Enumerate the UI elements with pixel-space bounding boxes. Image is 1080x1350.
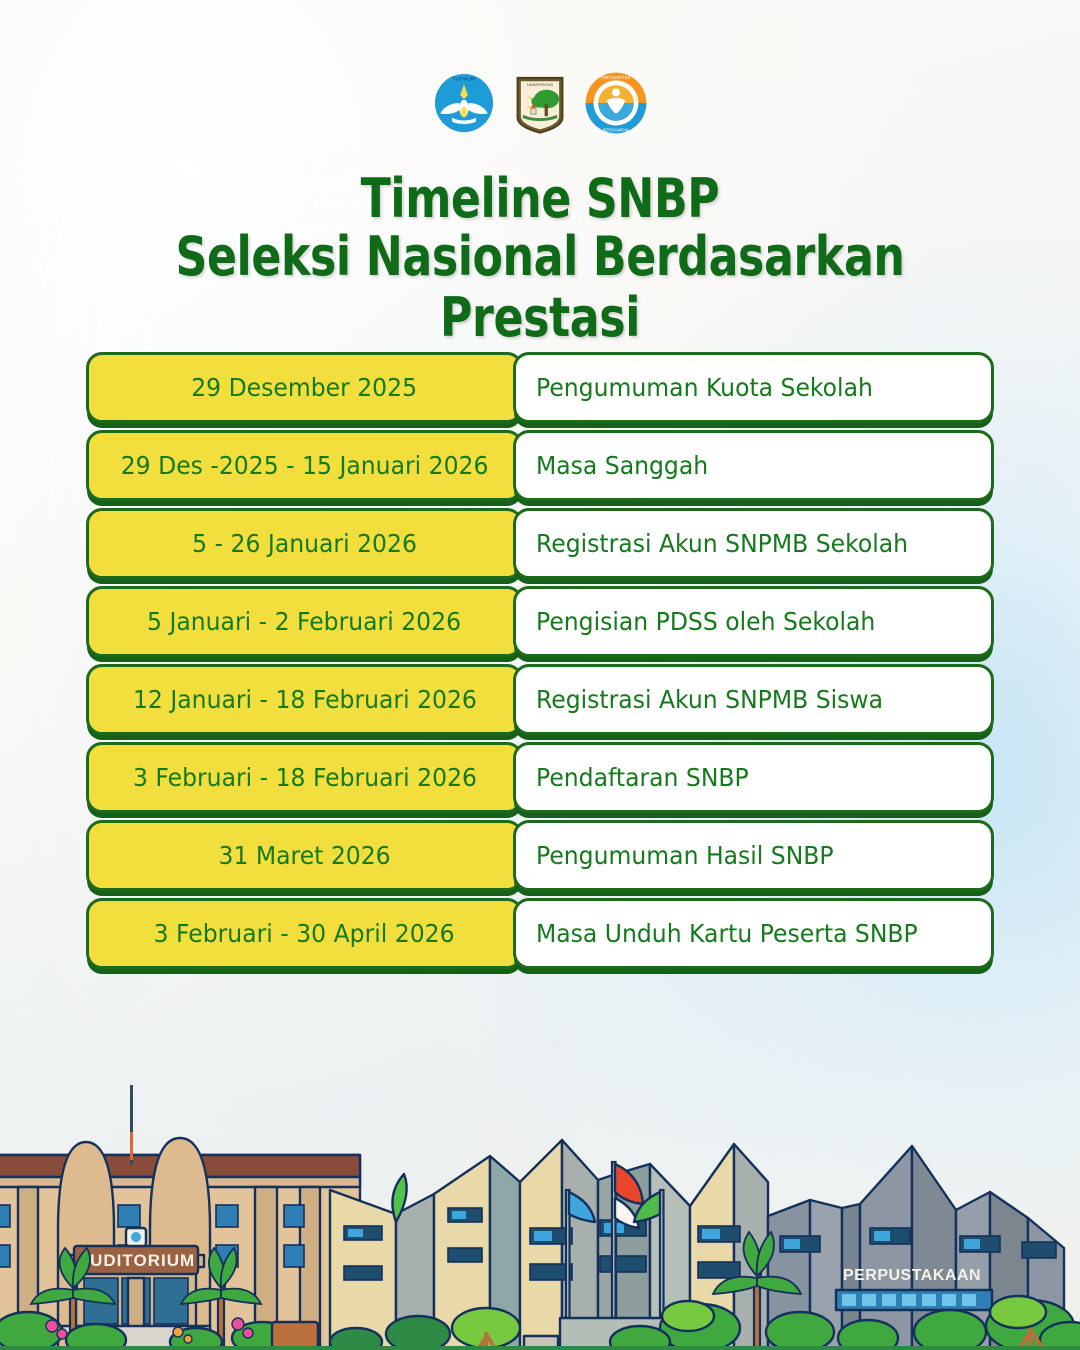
timeline-date-pill: 3 Februari - 30 April 2026 [86,898,523,969]
page-title: Timeline SNBP Seleksi Nasional Berdasark… [0,170,1080,348]
campus-illustration: .ol { stroke:#14315c; stroke-width:2.4; … [0,1050,1080,1350]
timeline-activity-text: Masa Sanggah [536,451,708,480]
timeline-date-text: 29 Des -2025 - 15 Januari 2026 [121,451,489,480]
timeline-date-text: 31 Maret 2026 [218,841,390,870]
title-line-secondary: Seleksi Nasional Berdasarkan Prestasi [97,227,983,348]
timeline-activity-pill: Registrasi Akun SNPMB Sekolah [513,508,994,579]
timeline-activity-pill: Pengisian PDSS oleh Sekolah [513,586,994,657]
timeline-activity-text: Pendaftaran SNBP [536,763,749,792]
tut-wuri-handayani-logo: TUT WURI [431,70,497,136]
library-sign-label: PERPUSTAKAAN [843,1267,981,1284]
timeline-date-pill: 29 Des -2025 - 15 Januari 2026 [86,430,523,501]
table-row: 3 Februari - 30 April 2026 Masa Unduh Ka… [86,898,994,969]
timeline-activity-text: Pengumuman Kuota Sekolah [536,373,873,402]
poster-canvas: TUT WURI UNIVERSITAS [0,0,1080,1350]
timeline-date-pill: 5 Januari - 2 Februari 2026 [86,586,523,657]
timeline-activity-pill: Masa Unduh Kartu Peserta SNBP [513,898,994,969]
timeline-activity-text: Registrasi Akun SNPMB Siswa [536,685,883,714]
timeline-date-text: 29 Desember 2025 [192,373,418,402]
table-row: 5 - 26 Januari 2026 Registrasi Akun SNPM… [86,508,994,579]
svg-text:UNIVERSITAS: UNIVERSITAS [527,82,553,87]
svg-text:BERDAMPAK: BERDAMPAK [603,127,630,132]
svg-text:TUT WURI: TUT WURI [453,77,475,82]
timeline-activity-pill: Pendaftaran SNBP [513,742,994,813]
logo-row: TUT WURI UNIVERSITAS [0,70,1080,136]
timeline-date-text: 5 - 26 Januari 2026 [192,529,417,558]
table-row: 5 Januari - 2 Februari 2026 Pengisian PD… [86,586,994,657]
timeline-activity-text: Registrasi Akun SNPMB Sekolah [536,529,908,558]
timeline-date-pill: 3 Februari - 18 Februari 2026 [86,742,523,813]
timeline-date-text: 3 Februari - 30 April 2026 [154,919,455,948]
auditorium-building: AUDITORIUM [0,1085,360,1350]
timeline-date-pill: 31 Maret 2026 [86,820,523,891]
table-row: 29 Des -2025 - 15 Januari 2026 Masa Sang… [86,430,994,501]
timeline-activity-text: Pengumuman Hasil SNBP [536,841,834,870]
timeline-date-pill: 5 - 26 Januari 2026 [86,508,523,579]
timeline-table: 29 Desember 2025 Pengumuman Kuota Sekola… [86,352,994,976]
timeline-activity-pill: Pengumuman Kuota Sekolah [513,352,994,423]
timeline-activity-pill: Masa Sanggah [513,430,994,501]
timeline-date-text: 12 Januari - 18 Februari 2026 [133,685,477,714]
table-row: 29 Desember 2025 Pengumuman Kuota Sekola… [86,352,994,423]
timeline-activity-text: Masa Unduh Kartu Peserta SNBP [536,919,918,948]
diktisaintek-berdampak-logo: DIKTISAINTEK BERDAMPAK [583,70,649,136]
timeline-date-pill: 12 Januari - 18 Februari 2026 [86,664,523,735]
timeline-activity-text: Pengisian PDSS oleh Sekolah [536,607,875,636]
timeline-activity-pill: Pengumuman Hasil SNBP [513,820,994,891]
university-emblem-logo: UNIVERSITAS [507,70,573,136]
timeline-activity-pill: Registrasi Akun SNPMB Siswa [513,664,994,735]
svg-text:DIKTISAINTEK: DIKTISAINTEK [601,75,630,80]
table-row: 12 Januari - 18 Februari 2026 Registrasi… [86,664,994,735]
title-line-primary: Timeline SNBP [97,170,983,227]
timeline-date-pill: 29 Desember 2025 [86,352,523,423]
table-row: 31 Maret 2026 Pengumuman Hasil SNBP [86,820,994,891]
table-row: 3 Februari - 18 Februari 2026 Pendaftara… [86,742,994,813]
timeline-date-text: 5 Januari - 2 Februari 2026 [147,607,461,636]
auditorium-sign-label: AUDITORIUM [77,1251,195,1270]
timeline-date-text: 3 Februari - 18 Februari 2026 [132,763,476,792]
